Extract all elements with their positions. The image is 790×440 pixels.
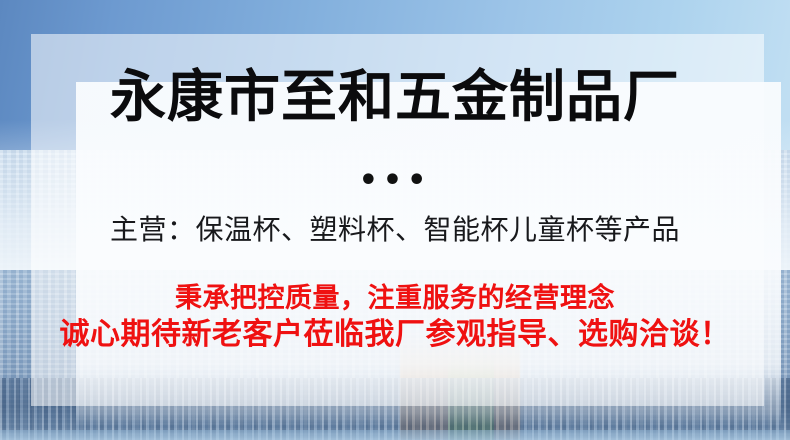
main-products-subtitle: 主营：保温杯、塑料杯、智能杯儿童杯等产品: [0, 212, 790, 247]
slogan-line-1: 秉承把控质量，注重服务的经营理念: [0, 282, 790, 316]
company-name-title: 永康市至和五金制品厂: [0, 70, 790, 126]
slogan-line-2: 诚心期待新老客户莅临我厂参观指导、选购洽谈！: [0, 316, 790, 354]
banner-content: 永康市至和五金制品厂 ••• 主营：保温杯、塑料杯、智能杯儿童杯等产品 秉承把控…: [0, 0, 790, 440]
company-promo-banner: 永康市至和五金制品厂 ••• 主营：保温杯、塑料杯、智能杯儿童杯等产品 秉承把控…: [0, 0, 790, 440]
slogan-block: 秉承把控质量，注重服务的经营理念 诚心期待新老客户莅临我厂参观指导、选购洽谈！: [0, 282, 790, 354]
dot-divider: •••: [0, 166, 790, 196]
